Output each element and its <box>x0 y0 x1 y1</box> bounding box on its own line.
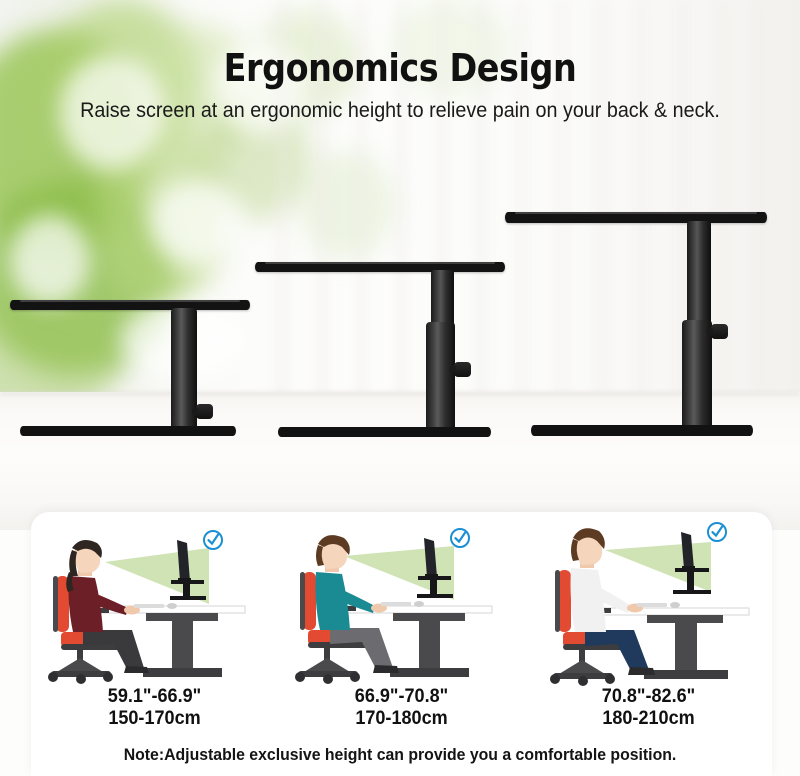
page-title: Ergonomics Design <box>48 46 752 90</box>
ergonomics-panels <box>31 518 772 693</box>
footer-note: Note:Adjustable exclusive height can pro… <box>28 745 772 765</box>
product-stand-medium <box>255 262 515 440</box>
product-stand-high <box>505 212 780 442</box>
stand-column-lower <box>426 322 455 432</box>
sight-line-cone <box>105 548 209 604</box>
height-inches: 59.1"-66.9" <box>37 686 272 708</box>
stand-shelf <box>255 262 505 272</box>
measurement-short: 59.1"-66.9" 150-170cm <box>37 686 272 730</box>
check-circle-icon <box>451 529 469 547</box>
height-cm: 170-180cm <box>284 708 519 730</box>
stand-adjust-knob <box>454 362 471 377</box>
highlight-blur <box>10 215 90 305</box>
height-cm: 150-170cm <box>37 708 272 730</box>
stand-shelf <box>505 212 767 223</box>
measurement-medium: 66.9"-70.8" 170-180cm <box>284 686 519 730</box>
infographic-page: Ergonomics Design Raise screen at an erg… <box>0 0 800 776</box>
height-inches: 66.9"-70.8" <box>284 686 519 708</box>
ergonomics-panel-medium <box>278 518 525 693</box>
height-cm: 180-210cm <box>531 708 766 730</box>
stand-column-upper <box>431 270 454 328</box>
ergonomics-panel-tall <box>525 518 772 693</box>
measurement-tall: 70.8"-82.6" 180-210cm <box>531 686 766 730</box>
highlight-blur <box>150 180 245 265</box>
posture-illustration-tall <box>525 518 772 693</box>
stand-adjust-knob <box>711 324 728 339</box>
stand-column-upper <box>687 221 711 325</box>
stand-column-lower <box>682 320 712 430</box>
check-circle-icon <box>708 523 726 541</box>
stand-adjust-knob <box>196 404 213 419</box>
height-inches: 70.8"-82.6" <box>531 686 766 708</box>
ergonomics-panel-short <box>31 518 278 693</box>
posture-illustration-short <box>31 518 278 693</box>
stand-base <box>20 426 236 436</box>
stand-base <box>278 427 491 437</box>
sight-line-cone <box>605 542 711 592</box>
measurement-labels: 59.1"-66.9" 150-170cm 66.9"-70.8" 170-18… <box>31 686 772 730</box>
sight-line-cone <box>344 546 454 600</box>
check-circle-icon <box>204 531 222 549</box>
page-subtitle: Raise screen at an ergonomic height to r… <box>24 99 776 123</box>
posture-illustration-medium <box>278 518 525 693</box>
stand-shelf <box>10 300 250 310</box>
stand-base <box>531 425 753 436</box>
product-stand-low <box>0 300 250 440</box>
